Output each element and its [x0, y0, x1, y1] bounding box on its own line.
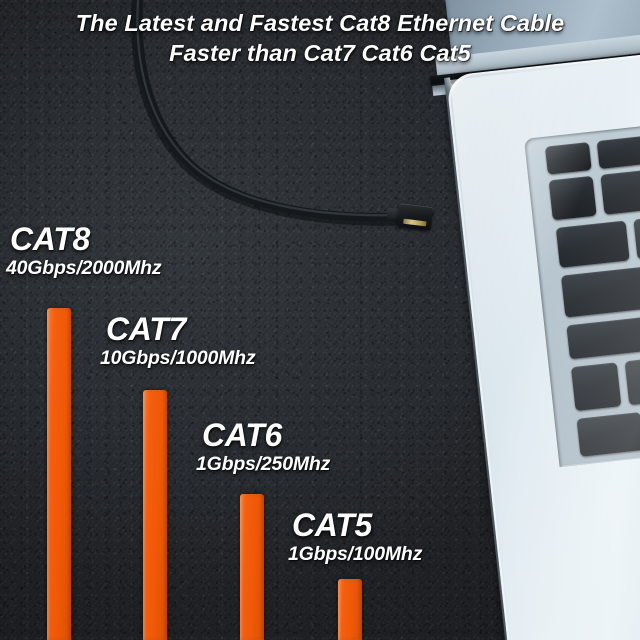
product-promo-image: The Latest and Fastest Cat8 Ethernet Cab…: [0, 0, 640, 640]
label-group-cat8: CAT8 40Gbps/2000Mhz: [6, 222, 161, 280]
spec-label-cat6: 1Gbps/250Mhz: [196, 452, 330, 476]
category-label-cat6: CAT6: [196, 418, 330, 452]
bar-cat8: [47, 308, 71, 640]
headline: The Latest and Fastest Cat8 Ethernet Cab…: [0, 8, 640, 68]
headline-line-1: The Latest and Fastest Cat8 Ethernet Cab…: [76, 10, 565, 36]
bar-cat7: [143, 390, 167, 640]
spec-label-cat7: 10Gbps/1000Mhz: [100, 346, 255, 370]
spec-label-cat5: 1Gbps/100Mhz: [288, 542, 422, 566]
label-group-cat6: CAT6 1Gbps/250Mhz: [196, 418, 330, 476]
label-group-cat7: CAT7 10Gbps/1000Mhz: [100, 312, 255, 370]
spec-label-cat8: 40Gbps/2000Mhz: [6, 256, 161, 280]
bar-cat5: [338, 579, 362, 640]
label-group-cat5: CAT5 1Gbps/100Mhz: [288, 508, 422, 566]
category-label-cat7: CAT7: [100, 312, 255, 346]
category-label-cat5: CAT5: [288, 508, 422, 542]
bar-cat6: [240, 494, 264, 640]
headline-line-2: Faster than Cat7 Cat6 Cat5: [0, 38, 640, 68]
category-label-cat8: CAT8: [6, 222, 161, 256]
